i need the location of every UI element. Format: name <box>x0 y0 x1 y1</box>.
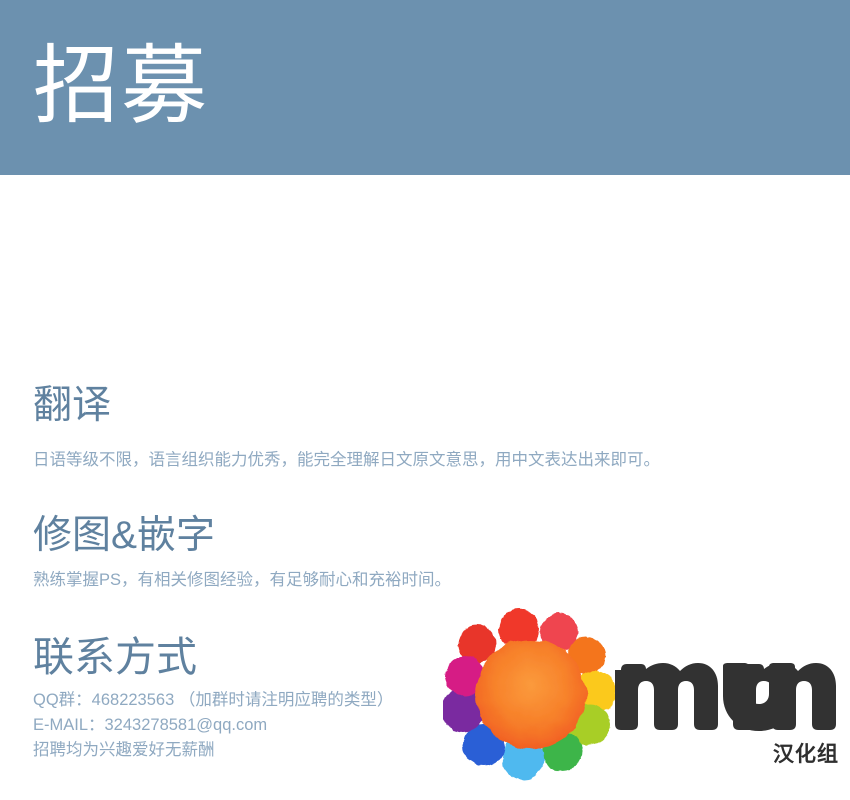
color-wheel-center <box>476 639 586 749</box>
section-translate: 翻译 日语等级不限，语言组织能力优秀，能完全理解日文原文意思，用中文表达出来即可… <box>33 383 660 473</box>
logo: 汉化组 <box>443 606 843 791</box>
mum-wordmark-icon <box>611 654 836 732</box>
section-retouch: 修图&嵌字 熟练掌握PS，有相关修图经验，有足够耐心和充裕时间。 <box>33 513 451 593</box>
header-banner: 招募 <box>0 0 850 175</box>
contact-lines: QQ群：468223563 （加群时请注明应聘的类型） E-MAIL：32432… <box>33 688 393 763</box>
logo-subtitle: 汉化组 <box>773 738 839 768</box>
section-translate-heading: 翻译 <box>33 383 660 429</box>
section-retouch-body: 熟练掌握PS，有相关修图经验，有足够耐心和充裕时间。 <box>33 568 451 593</box>
contact-line-email: E-MAIL：3243278581@qq.com <box>33 713 393 738</box>
section-retouch-heading: 修图&嵌字 <box>33 513 451 559</box>
contact-line-note: 招聘均为兴趣爱好无薪酬 <box>33 738 393 763</box>
section-contact: 联系方式 QQ群：468223563 （加群时请注明应聘的类型） E-MAIL：… <box>33 633 393 763</box>
page-title: 招募 <box>33 38 209 134</box>
contact-line-qq: QQ群：468223563 （加群时请注明应聘的类型） <box>33 688 393 713</box>
section-translate-body: 日语等级不限，语言组织能力优秀，能完全理解日文原文意思，用中文表达出来即可。 <box>33 448 660 473</box>
color-wheel-icon <box>443 606 623 786</box>
wordmark-block: 汉化组 <box>611 654 841 794</box>
section-contact-heading: 联系方式 <box>33 633 393 681</box>
